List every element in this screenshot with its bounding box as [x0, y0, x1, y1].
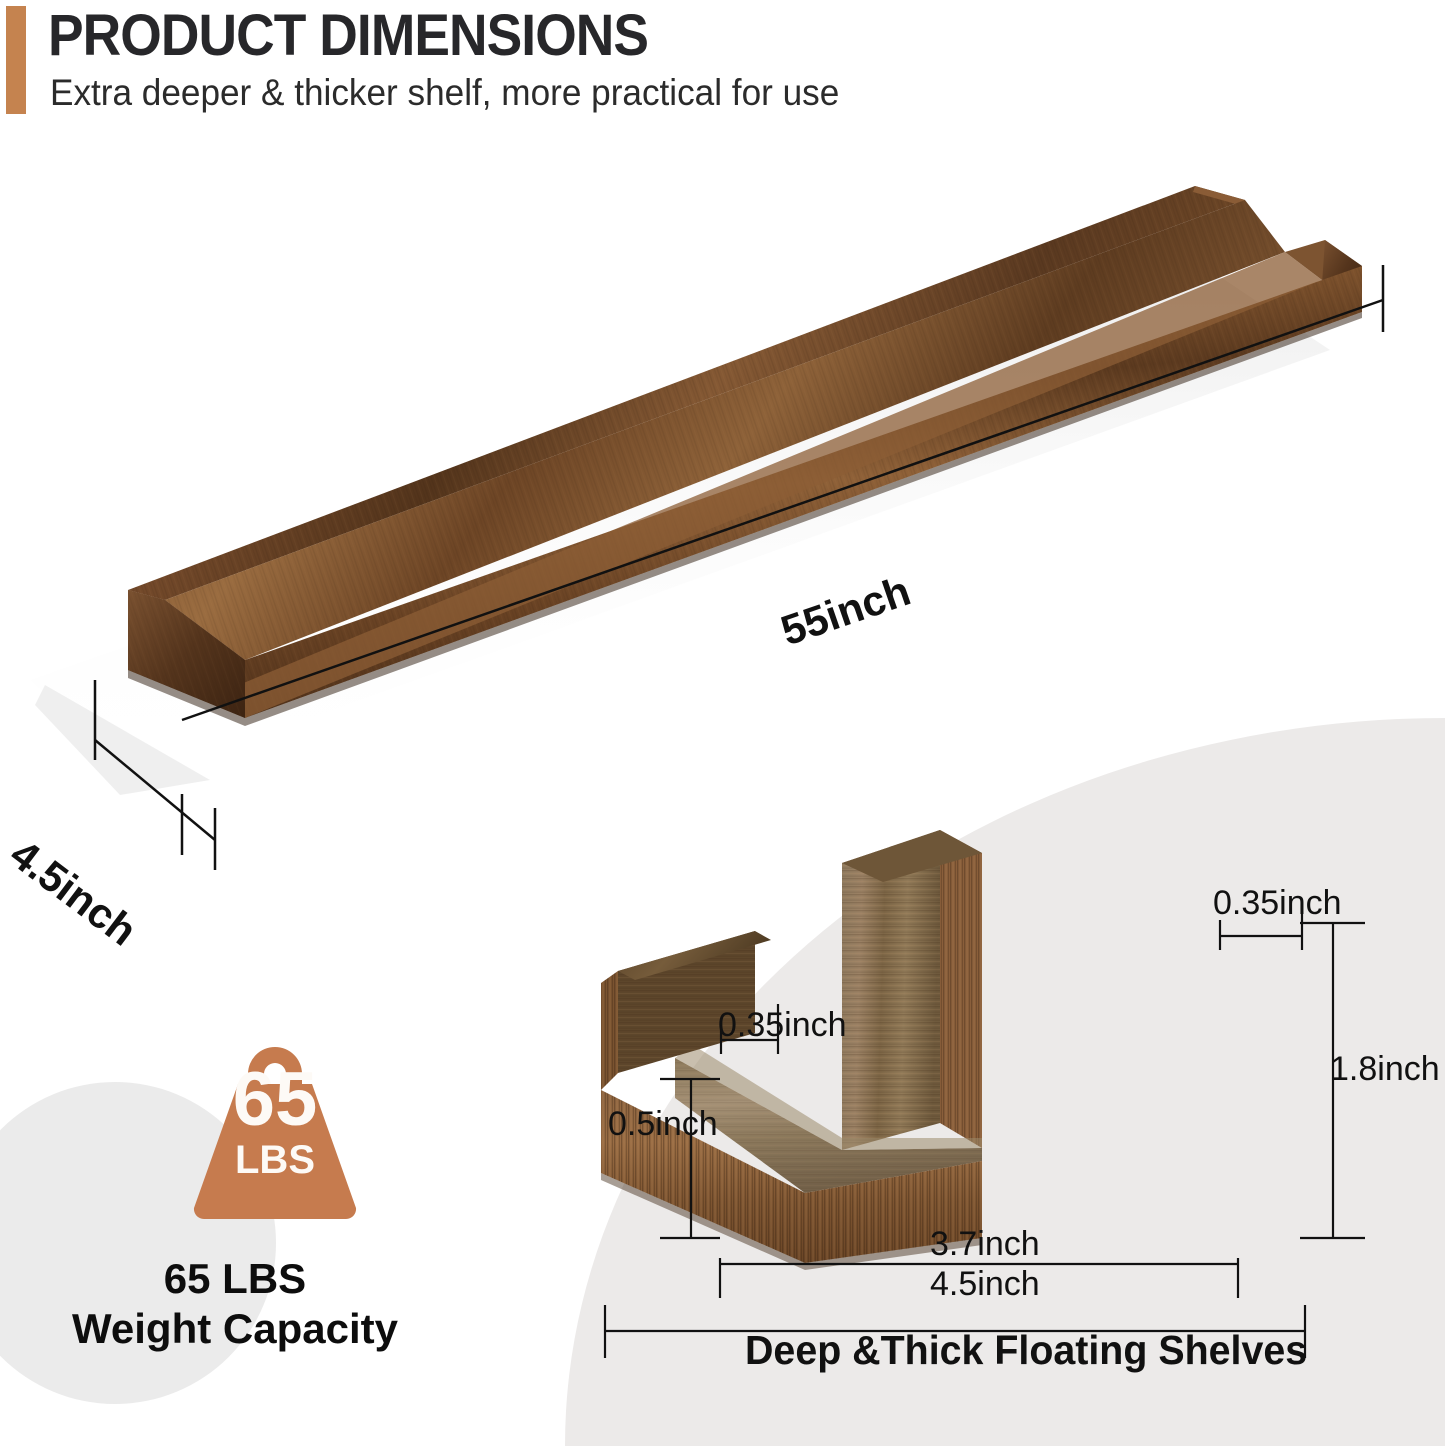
- page-subtitle: Extra deeper & thicker shelf, more pract…: [50, 72, 839, 114]
- dimension-label-inner-depth: 3.7inch: [930, 1225, 1040, 1264]
- weight-icon-number: 65: [180, 1062, 370, 1138]
- accent-bar: [6, 6, 26, 114]
- dimension-label-total-depth: 4.5inch: [930, 1265, 1040, 1304]
- cross-section-caption: Deep &Thick Floating Shelves: [745, 1327, 1307, 1374]
- header: PRODUCT DIMENSIONS Extra deeper & thicke…: [0, 0, 1445, 130]
- dimension-label-front-height: 0.5inch: [608, 1105, 718, 1144]
- dimension-label-back-height: 1.8inch: [1330, 1050, 1440, 1089]
- dimension-label-front-lip-thickness: 0.35inch: [718, 1006, 847, 1045]
- weight-caption-line1: 65 LBS: [0, 1255, 470, 1303]
- dimension-label-back-lip-thickness: 0.35inch: [1213, 884, 1342, 923]
- page-title: PRODUCT DIMENSIONS: [48, 2, 648, 69]
- weight-icon-unit: LBS: [180, 1140, 370, 1180]
- weight-caption-line2: Weight Capacity: [0, 1305, 470, 1353]
